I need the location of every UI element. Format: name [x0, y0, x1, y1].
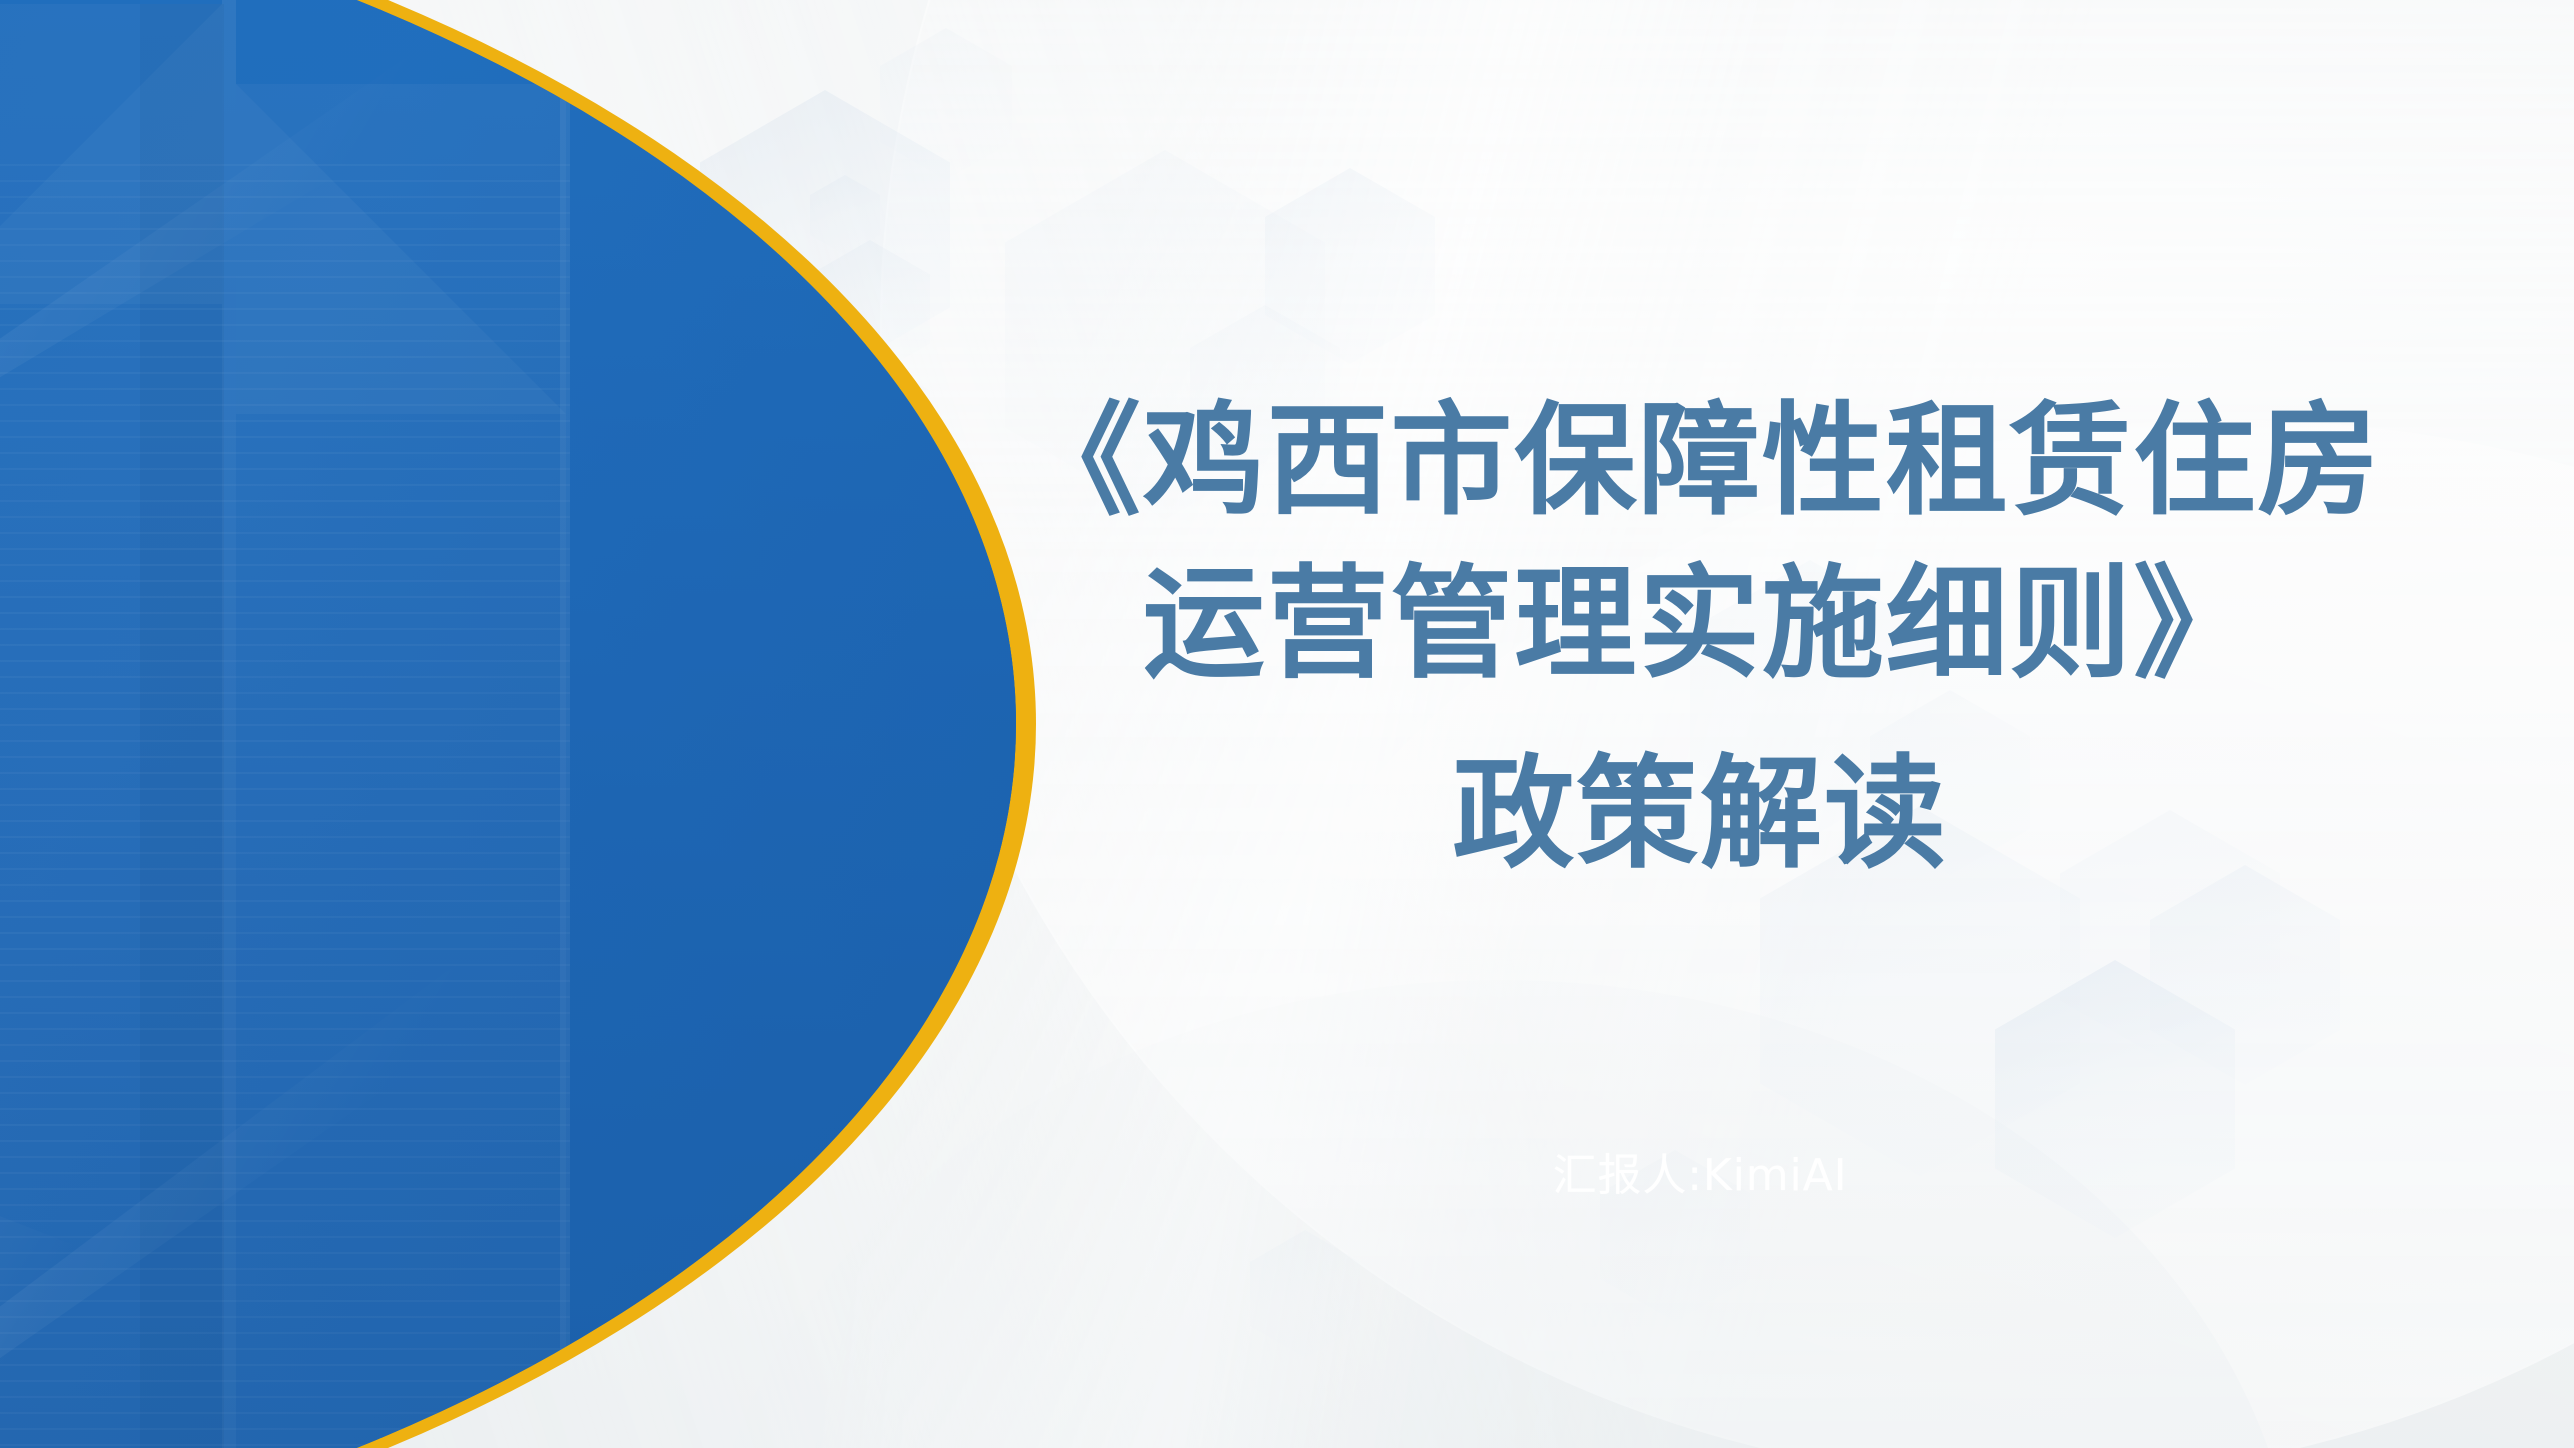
blue-panel-fill [0, 0, 1016, 1448]
title-line-3: 政策解读 [960, 733, 2440, 896]
skyscraper-photo [0, 0, 1016, 1448]
photo-blue-overlay [0, 0, 1016, 1448]
presenter-byline: 汇报人:KimiAI [960, 1139, 2440, 1203]
page-title: 《鸡西市保障性租赁住房 运营管理实施细则》 政策解读 [960, 380, 2440, 896]
title-slide: 《鸡西市保障性租赁住房 运营管理实施细则》 政策解读 汇报人:KimiAI [0, 0, 2574, 1448]
title-line-1: 《鸡西市保障性租赁住房 [960, 380, 2440, 543]
hexagon-icon [1250, 1230, 1360, 1358]
blue-curved-panel [0, 0, 1060, 1448]
title-line-2: 运营管理实施细则》 [960, 543, 2440, 706]
